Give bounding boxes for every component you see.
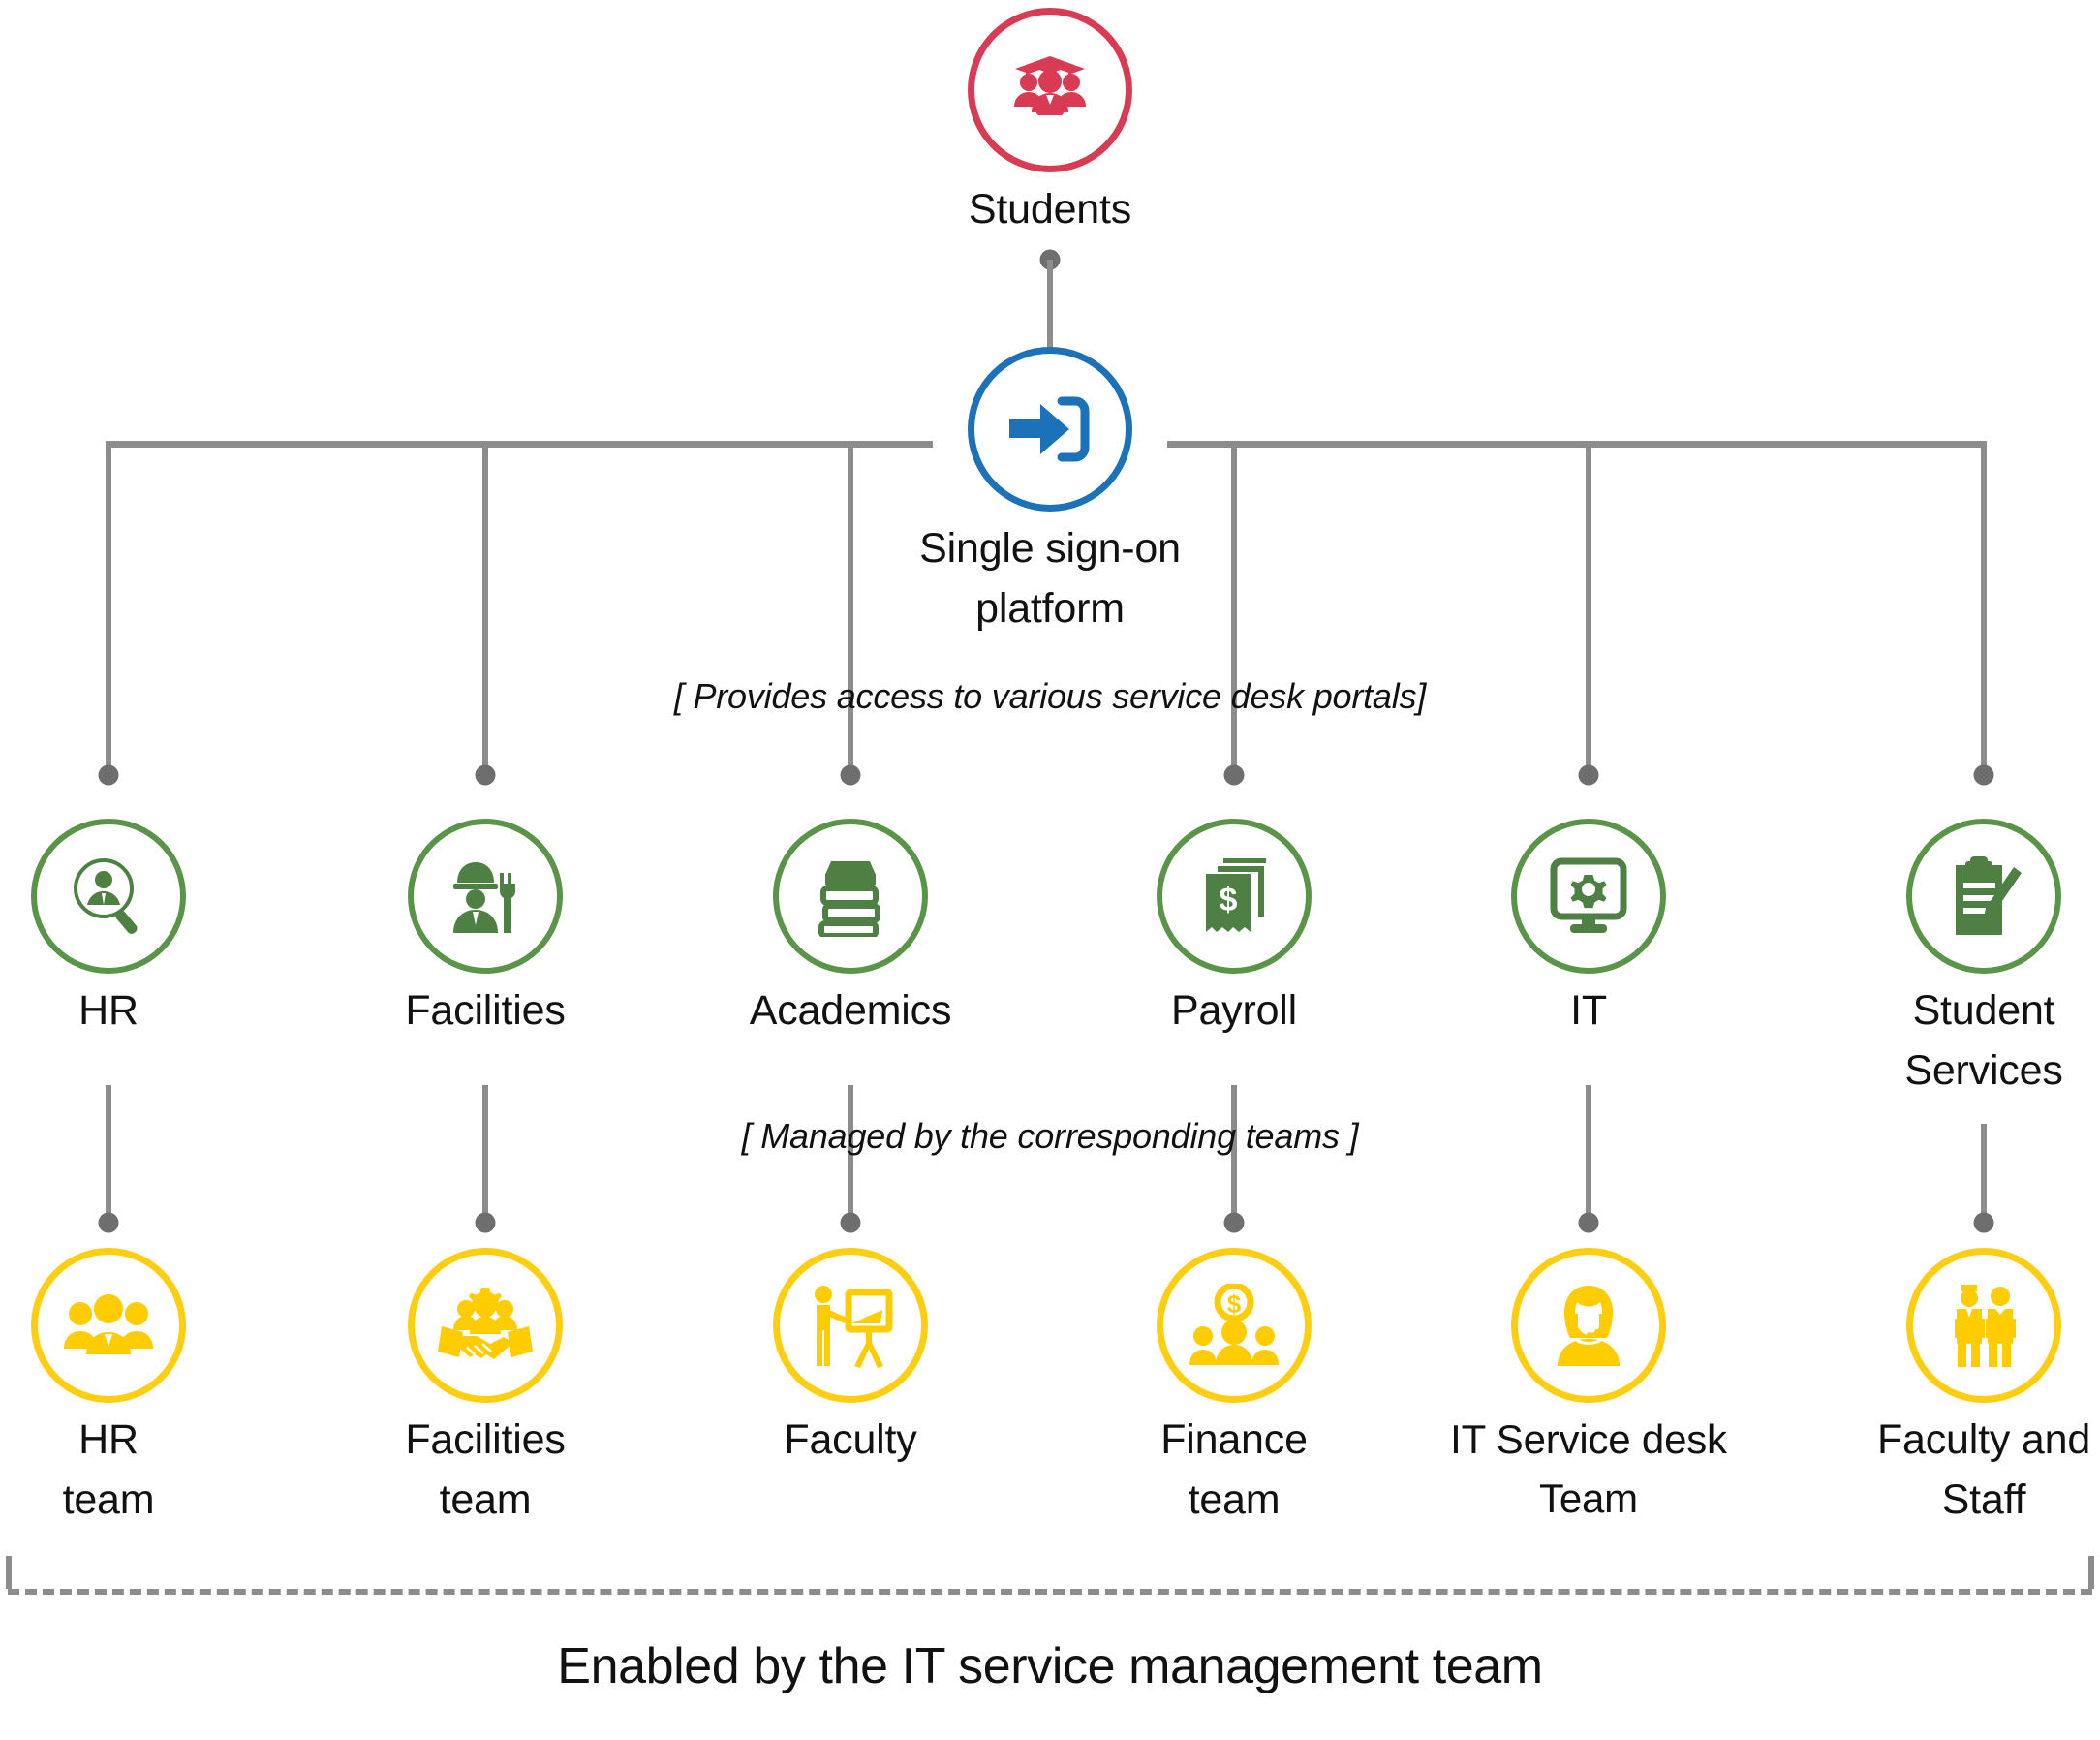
it-circle	[1511, 819, 1666, 974]
bus-bar-right	[1167, 441, 1987, 448]
worker-hardhat-wrench-icon	[442, 855, 529, 937]
presenter-whiteboard-icon	[806, 1283, 895, 1368]
coin-people-icon: $	[1189, 1284, 1280, 1367]
connector-dot-facilities-team	[476, 1213, 496, 1233]
it-label: IT	[1443, 989, 1734, 1034]
node-service-facilities[interactable]: Facilities	[340, 819, 631, 1034]
sso-circle	[968, 347, 1132, 512]
connector-dot-it-service-desk	[1579, 1213, 1599, 1233]
sign-in-arrow-icon	[1005, 390, 1095, 468]
node-team-it-service-desk[interactable]: IT Service desk Team	[1443, 1248, 1734, 1520]
academics-circle	[773, 819, 928, 974]
node-service-payroll[interactable]: $ Payroll	[1089, 819, 1379, 1034]
it-service-desk-label-line2: Team	[1443, 1477, 1734, 1521]
faculty-label-line1: Faculty	[705, 1418, 996, 1463]
drop-hr	[106, 441, 111, 772]
drop-payroll	[1231, 441, 1237, 772]
finance-team-label-line1: Finance	[1089, 1418, 1379, 1463]
node-single-sign-on[interactable]: Single sign-on platform	[905, 347, 1195, 631]
monitor-gear-icon	[1547, 855, 1630, 937]
node-team-faculty[interactable]: Faculty	[705, 1248, 996, 1478]
facilities-team-circle	[408, 1248, 563, 1403]
node-service-hr[interactable]: HR	[0, 819, 254, 1034]
diagram-canvas: Students Single sign-on platform [ Provi…	[0, 0, 2100, 1740]
it-service-desk-label-line1: IT Service desk	[1443, 1418, 1734, 1462]
connector-dot-it	[1579, 765, 1599, 786]
faculty-staff-label-line2: Staff	[1838, 1478, 2100, 1523]
connector-dot-facilities	[476, 765, 496, 786]
footer-bracket-tick-right	[2088, 1556, 2094, 1589]
link-hr-to-hr-team	[106, 1085, 111, 1221]
node-service-it[interactable]: IT	[1443, 819, 1734, 1034]
link-facilities-to-facilities-team	[482, 1085, 488, 1221]
student-services-circle	[1906, 819, 2061, 974]
drop-student-services	[1981, 441, 1987, 772]
connector-dot-hr	[99, 765, 119, 786]
footer-bracket-tick-left	[6, 1556, 12, 1589]
facilities-team-label-line1: Facilities	[340, 1418, 631, 1463]
bus-bar-left	[106, 441, 933, 448]
connector-dot-student-services	[1974, 765, 1994, 786]
node-students[interactable]: Students	[905, 8, 1195, 233]
node-service-student-services[interactable]: Student Services	[1838, 819, 2100, 1093]
students-label: Students	[905, 188, 1195, 233]
sso-label-line1: Single sign-on	[905, 527, 1195, 572]
student-services-label-line2: Services	[1838, 1049, 2100, 1094]
svg-text:$: $	[1227, 1289, 1242, 1319]
hr-team-label-line2: team	[0, 1478, 254, 1523]
person-magnifier-icon	[66, 854, 151, 939]
payroll-circle: $	[1157, 819, 1312, 974]
drop-facilities	[482, 441, 488, 772]
link-it-to-it-service-desk	[1586, 1085, 1591, 1221]
connector-dot-faculty	[841, 1213, 861, 1233]
stacked-books-icon	[810, 855, 891, 937]
sso-label-line2: platform	[905, 587, 1195, 632]
faculty-circle	[773, 1248, 928, 1403]
graduates-group-icon	[1002, 52, 1098, 128]
connector-dot-faculty-staff	[1974, 1213, 1994, 1233]
faculty-staff-circle	[1906, 1248, 2061, 1403]
footer-dashed-divider	[8, 1589, 2092, 1595]
students-circle	[968, 8, 1132, 172]
footer-caption: Enabled by the IT service management tea…	[0, 1637, 2100, 1695]
hr-circle	[31, 819, 186, 974]
connector-students-to-hub	[1047, 260, 1053, 349]
headset-support-agent-icon	[1550, 1283, 1627, 1368]
svg-text:$: $	[1220, 882, 1238, 918]
node-team-finance[interactable]: $ Finance team	[1089, 1248, 1379, 1522]
connector-dot-finance-team	[1224, 1213, 1245, 1233]
drop-academics	[848, 441, 853, 772]
link-student-services-to-faculty-staff	[1981, 1124, 1987, 1221]
two-staff-people-icon	[1945, 1282, 2023, 1369]
academics-label: Academics	[705, 989, 996, 1034]
faculty-staff-label-line1: Faculty and	[1838, 1418, 2100, 1463]
hr-team-label-line1: HR	[0, 1418, 254, 1463]
finance-team-circle: $	[1157, 1248, 1312, 1403]
connector-dot-hr-team	[99, 1213, 119, 1233]
annotation-sso-note: [ Provides access to various service des…	[674, 676, 1426, 717]
facilities-label: Facilities	[340, 989, 631, 1034]
hr-label: HR	[0, 989, 254, 1034]
finance-team-label-line2: team	[1089, 1478, 1379, 1523]
facilities-circle	[408, 819, 563, 974]
student-services-label-line1: Student	[1838, 989, 2100, 1034]
node-service-academics[interactable]: Academics	[705, 819, 996, 1034]
drop-it	[1586, 441, 1591, 772]
facilities-team-label-line2: team	[340, 1478, 631, 1523]
three-people-group-icon	[62, 1292, 155, 1358]
connector-dot-academics	[841, 765, 861, 786]
node-team-hr[interactable]: HR team	[0, 1248, 254, 1522]
annotation-teams-note: [ Managed by the corresponding teams ]	[742, 1116, 1359, 1157]
it-service-desk-circle	[1511, 1248, 1666, 1403]
node-team-faculty-staff[interactable]: Faculty and Staff	[1838, 1248, 2100, 1522]
clipboard-pencil-icon	[1944, 854, 2023, 939]
money-dollar-notes-icon: $	[1194, 854, 1274, 938]
connector-dot-payroll	[1224, 765, 1245, 786]
payroll-label: Payroll	[1089, 989, 1379, 1034]
node-team-facilities[interactable]: Facilities team	[340, 1248, 631, 1522]
handshake-gear-icon	[438, 1284, 533, 1367]
hr-team-circle	[31, 1248, 186, 1403]
